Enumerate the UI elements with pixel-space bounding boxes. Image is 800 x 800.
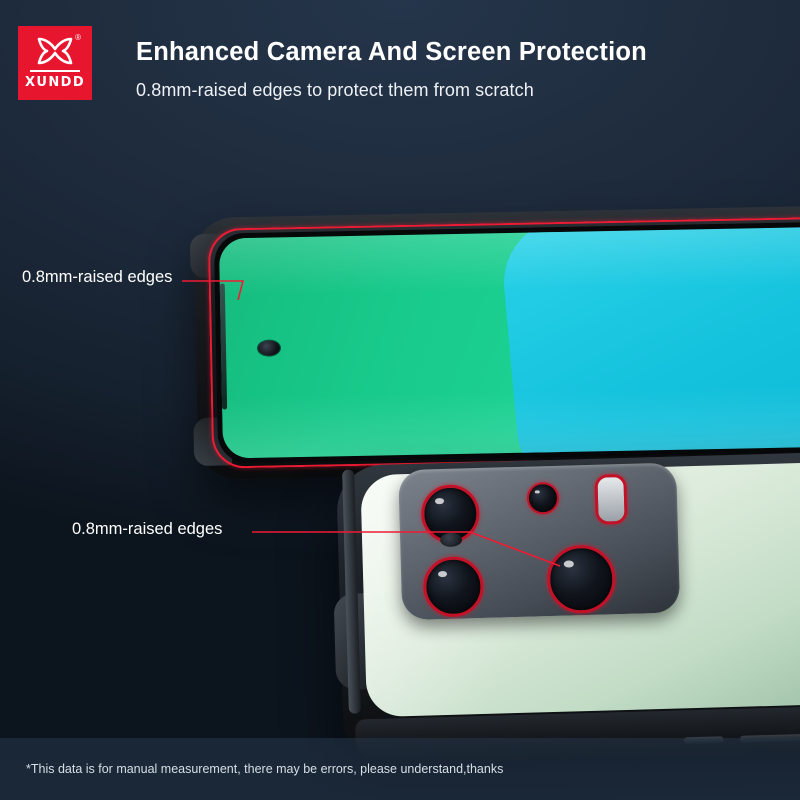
logo-divider xyxy=(30,70,80,72)
butterfly-glyph-icon xyxy=(35,37,75,65)
registered-trademark-symbol: ® xyxy=(75,34,81,42)
camera-lens-ultrawide xyxy=(423,556,485,618)
raised-screen-edge-highlight xyxy=(208,217,800,469)
footer-disclaimer: *This data is for manual measurement, th… xyxy=(26,762,503,776)
camera-sensor-dot-icon xyxy=(440,533,462,548)
page-subtitle: 0.8mm-raised edges to protect them from … xyxy=(136,80,776,101)
product-marketing-image: ® XUNDD Enhanced Camera And Screen Prote… xyxy=(0,0,800,800)
xundd-logo: ® XUNDD xyxy=(18,26,92,100)
page-title: Enhanced Camera And Screen Protection xyxy=(136,38,776,67)
logo-wordmark: XUNDD xyxy=(25,75,85,90)
camera-lens-small xyxy=(527,482,560,515)
callout-camera-ring: 0.8mm-raised edges xyxy=(72,520,222,539)
xundd-logo-mark-icon: ® xyxy=(35,37,75,65)
phone-top-screen-view xyxy=(193,206,800,480)
phone-bottom-camera-view xyxy=(336,451,800,765)
camera-flash-icon xyxy=(594,474,627,525)
camera-lens-main xyxy=(546,544,616,614)
camera-module xyxy=(398,463,680,621)
callout-screen-edge: 0.8mm-raised edges xyxy=(22,268,172,287)
